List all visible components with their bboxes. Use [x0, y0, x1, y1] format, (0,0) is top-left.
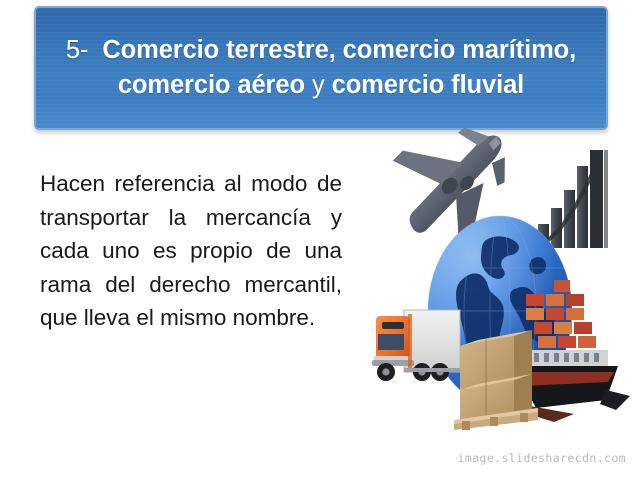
title-banner: 5- Comercio terrestre, comercio marítimo… [34, 6, 608, 130]
title-space-1 [88, 36, 102, 64]
slide-canvas: 5- Comercio terrestre, comercio marítimo… [0, 0, 638, 479]
watermark-label: image.slidesharecdn.com [458, 451, 626, 465]
cardboard-boxes-icon [454, 330, 538, 430]
title-number: 5- [66, 36, 88, 64]
title-segment-bold-2: comercio fluvial [332, 71, 525, 99]
logistics-collage-image [368, 128, 638, 430]
truck-icon [372, 310, 460, 381]
title-space-2 [305, 71, 312, 99]
title-space-3 [325, 71, 332, 99]
body-paragraph-text: Hacen referencia al modo de transportar … [40, 171, 342, 330]
page-title: 5- Comercio terrestre, comercio marítimo… [36, 33, 606, 103]
body-paragraph: Hacen referencia al modo de transportar … [40, 167, 342, 335]
title-conjunction: y [312, 71, 325, 99]
bar-chart-icon [533, 150, 608, 248]
